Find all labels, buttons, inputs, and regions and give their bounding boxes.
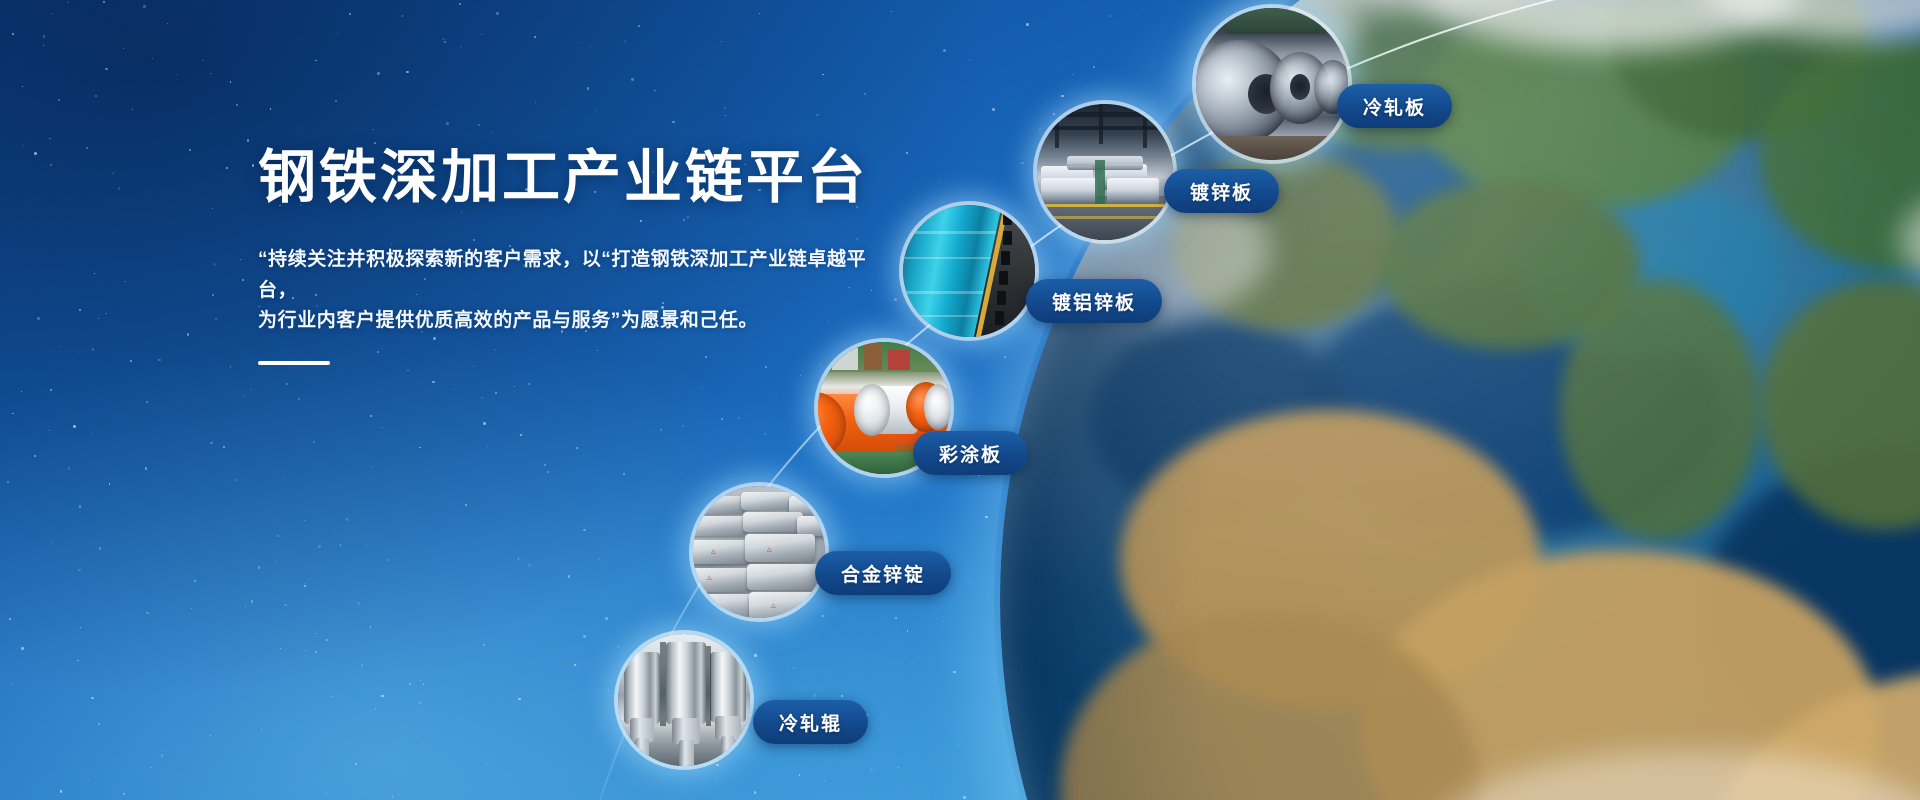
zinc-alloy-ingots-photo: △ △ △ △: [693, 486, 825, 618]
product-label-text: 合金锌锭: [841, 560, 925, 587]
product-label-cold-rolled-sheet[interactable]: 冷轧板: [1337, 84, 1452, 128]
product-thumb-galvanized-sheet[interactable]: [1037, 104, 1173, 240]
product-label-text: 镀锌板: [1190, 178, 1253, 205]
product-label-color-coated-sheet[interactable]: 彩涂板: [913, 431, 1028, 475]
product-thumb-aluzinc-sheet[interactable]: [903, 205, 1035, 337]
steel-coil-stack-photo: [1196, 8, 1348, 160]
product-label-text: 冷轧板: [1363, 93, 1426, 120]
product-label-text: 镀铝锌板: [1052, 288, 1136, 315]
hero-subtitle-line-1: “持续关注并积极探索新的客户需求，以“打造钢铁深加工产业链卓越平台，: [258, 245, 878, 307]
hero-copy: 钢铁深加工产业链平台 “持续关注并积极探索新的客户需求，以“打造钢铁深加工产业链…: [258, 148, 878, 365]
product-label-aluzinc-sheet[interactable]: 镀铝锌板: [1026, 279, 1162, 323]
hero-subtitle: “持续关注并积极探索新的客户需求，以“打造钢铁深加工产业链卓越平台， 为行业内客…: [258, 245, 878, 337]
product-thumb-cold-rolled-sheet[interactable]: [1196, 8, 1348, 160]
galvanized-coil-warehouse-photo: [1037, 104, 1173, 240]
polished-steel-rollers-photo: [618, 634, 750, 766]
product-label-galvanized-sheet[interactable]: 镀锌板: [1164, 169, 1279, 213]
product-label-text: 彩涂板: [939, 440, 1002, 467]
hero-subtitle-line-2: 为行业内客户提供优质高效的产品与服务”为愿景和己任。: [258, 306, 878, 337]
hero-banner: 钢铁深加工产业链平台 “持续关注并积极探索新的客户需求，以“打造钢铁深加工产业链…: [0, 0, 1920, 800]
product-thumb-cold-rolling-roller[interactable]: [618, 634, 750, 766]
product-label-zinc-alloy-ingot[interactable]: 合金锌锭: [815, 551, 951, 595]
product-label-cold-rolling-roller[interactable]: 冷轧辊: [753, 700, 868, 744]
product-label-text: 冷轧辊: [779, 709, 842, 736]
page-title: 钢铁深加工产业链平台: [258, 148, 878, 209]
aluzinc-coating-line-photo: [903, 205, 1035, 337]
product-thumb-zinc-alloy-ingot[interactable]: △ △ △ △: [693, 486, 825, 618]
title-divider: [258, 361, 330, 365]
